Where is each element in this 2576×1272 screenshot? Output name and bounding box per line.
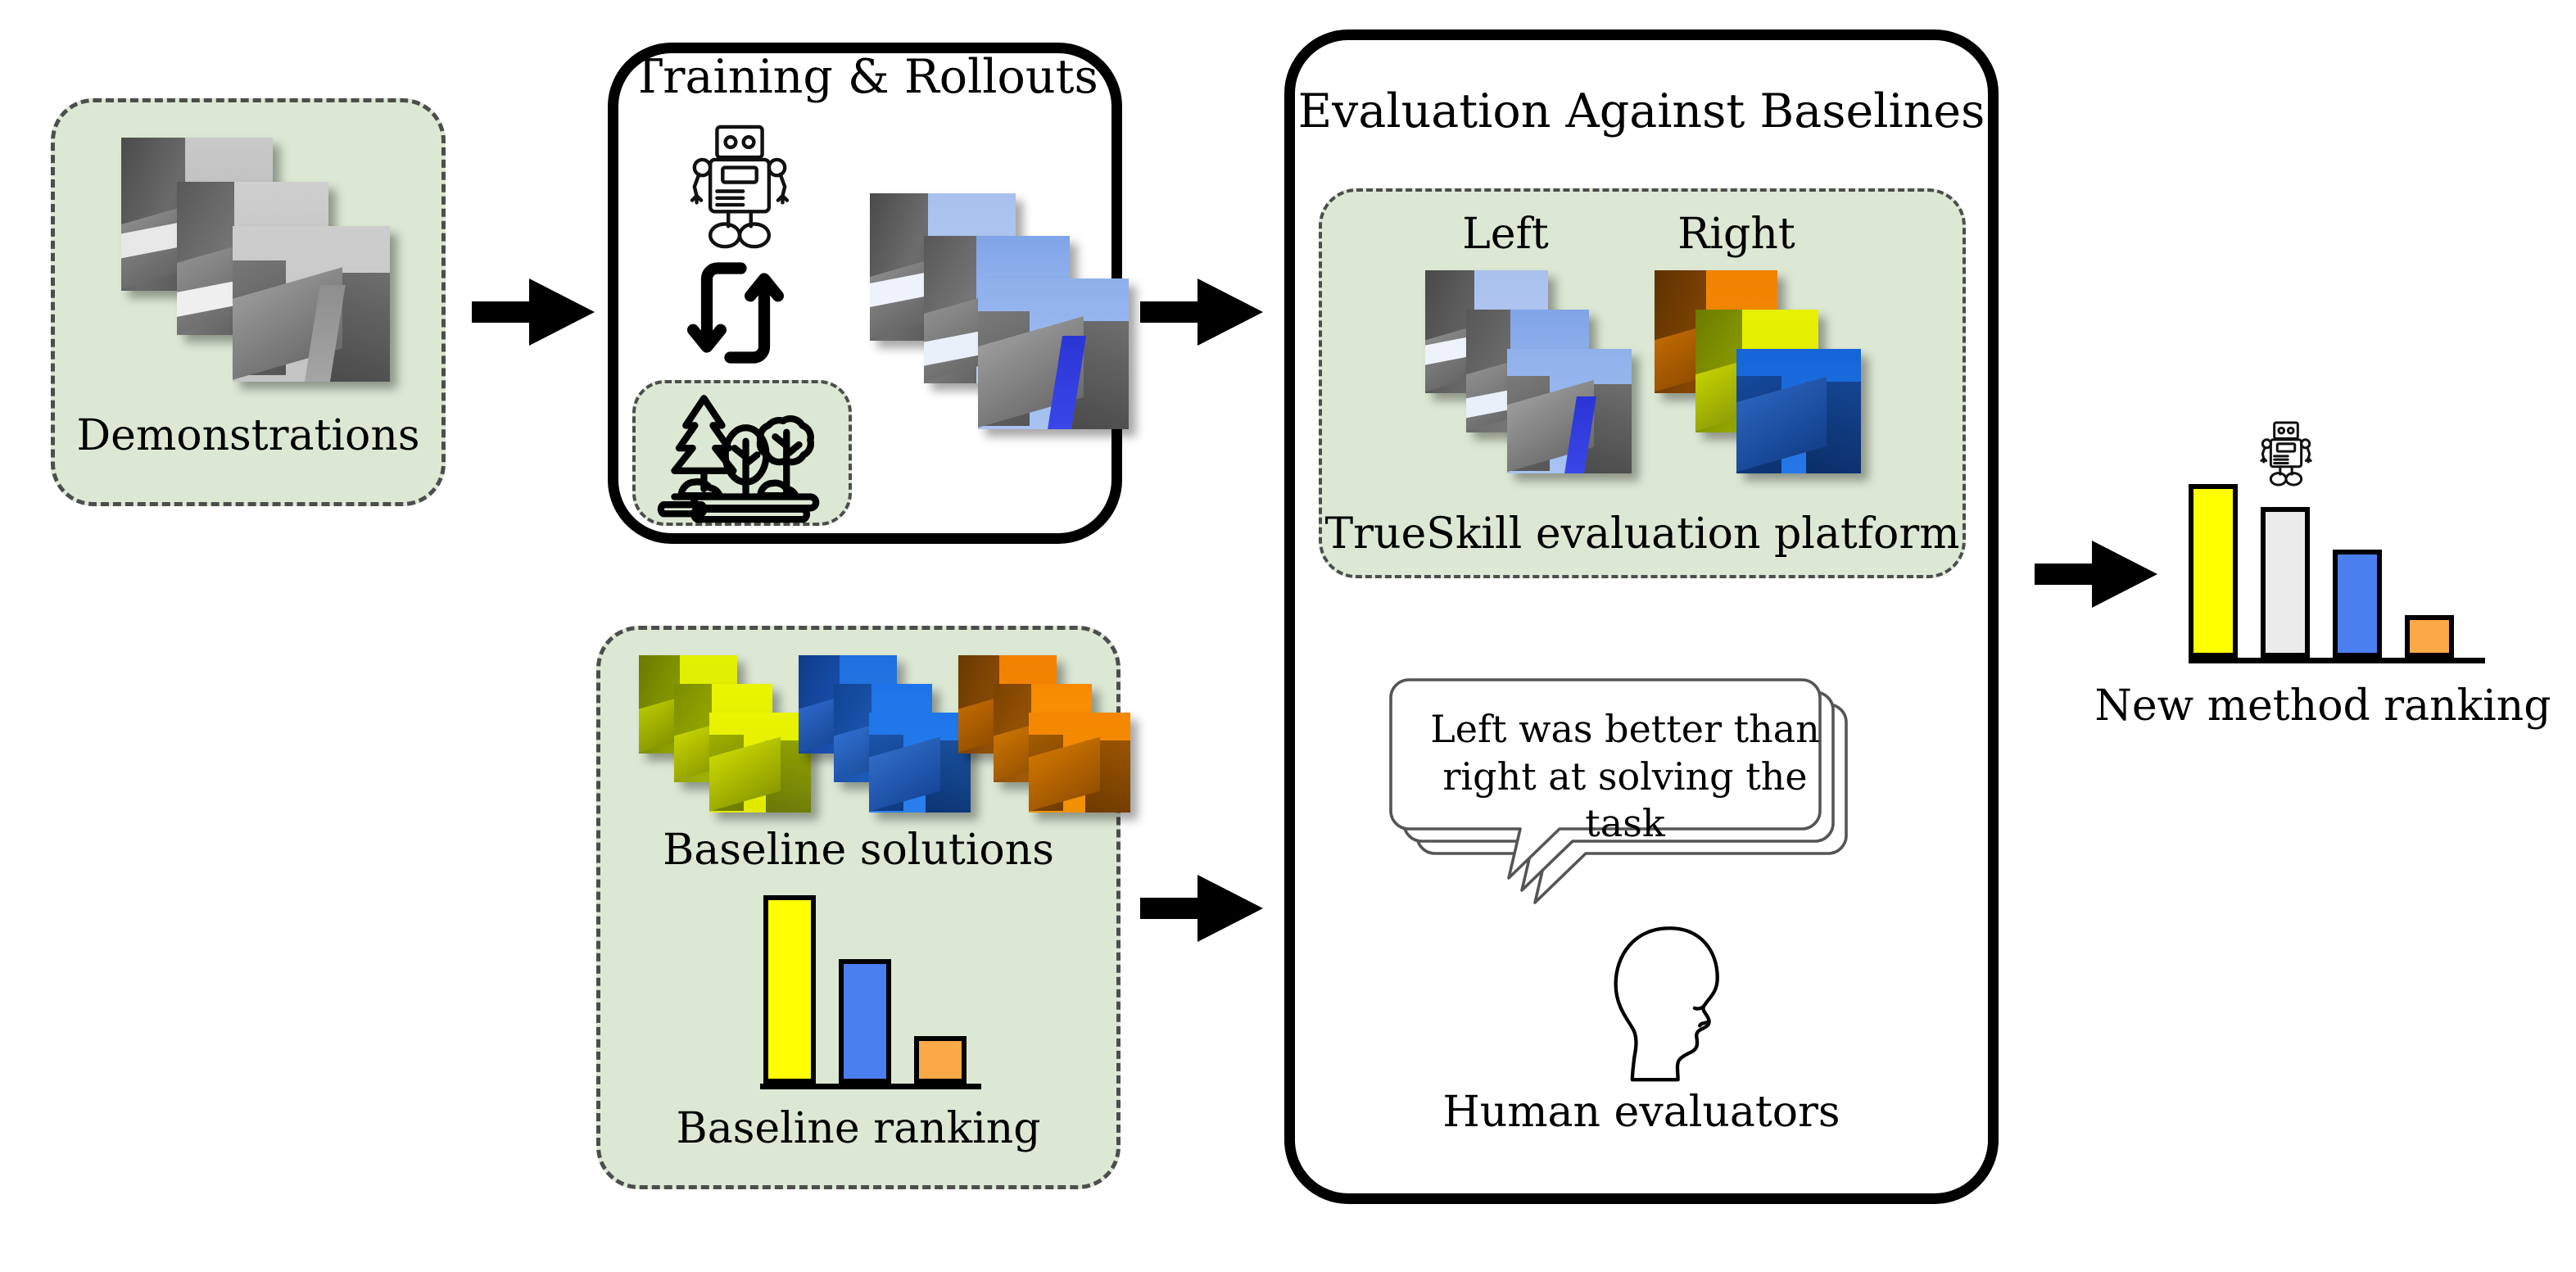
bar-blue — [2333, 550, 2382, 658]
thumbnail-left-front — [1507, 349, 1632, 473]
demonstrations-image-stack — [121, 138, 392, 383]
thumbnail-grey-front — [233, 226, 390, 382]
trueskill-label: TrueSkill evaluation platform — [1319, 513, 1966, 555]
bar-yellow — [2189, 484, 2238, 658]
human-head-profile-icon — [1609, 924, 1734, 1086]
bar-orange — [914, 1036, 967, 1084]
bar-blue — [839, 959, 891, 1084]
eval-left-image-stack — [1425, 270, 1630, 496]
new-method-ranking-label: New method ranking — [2072, 685, 2574, 727]
baseline-blue-stack — [799, 655, 962, 811]
baseline-ranking-label: Baseline ranking — [596, 1107, 1120, 1150]
thumbnail-rollout-front — [978, 278, 1129, 429]
baseline-ranking-chart — [760, 885, 981, 1089]
evaluation-title: Evaluation Against Baselines — [1284, 88, 1999, 135]
demonstrations-label: Demonstrations — [51, 414, 446, 457]
human-evaluators-label: Human evaluators — [1284, 1091, 1999, 1134]
left-label: Left — [1424, 213, 1587, 256]
bar-orange — [2405, 615, 2454, 658]
robot-icon — [2251, 419, 2321, 488]
arrow-baselines-to-evaluation — [1140, 875, 1265, 942]
forest-environment-icon — [655, 392, 827, 516]
thumbnail-right-front-blue — [1736, 349, 1861, 473]
thumbnail-blue-front — [869, 713, 971, 813]
rollouts-image-stack — [870, 193, 1122, 439]
speech-bubble-text: Left was better than right at solving th… — [1397, 706, 1853, 848]
baseline-solutions-label: Baseline solutions — [596, 829, 1120, 871]
chart-axis — [760, 1084, 981, 1089]
diagram-canvas: Demonstrations Training & Rollouts — [0, 0, 2576, 1272]
bar-new-method-grey — [2261, 507, 2310, 658]
refresh-cycle-icon — [681, 256, 790, 370]
thumbnail-orange-front — [1029, 713, 1130, 813]
arrow-demos-to-training — [472, 278, 595, 346]
training-title: Training & Rollouts — [608, 54, 1122, 101]
baseline-yellow-stack — [639, 655, 803, 811]
chart-axis — [2189, 658, 2485, 663]
bar-yellow — [763, 895, 816, 1084]
eval-right-image-stack — [1655, 270, 1859, 496]
new-method-ranking-chart — [2189, 473, 2485, 663]
right-label: Right — [1655, 213, 1818, 256]
arrow-training-to-evaluation — [1140, 278, 1265, 346]
thumbnail-yellow-front — [709, 713, 811, 813]
baseline-orange-stack — [958, 655, 1122, 811]
arrow-evaluation-to-result — [2035, 541, 2166, 608]
robot-icon — [672, 121, 808, 252]
